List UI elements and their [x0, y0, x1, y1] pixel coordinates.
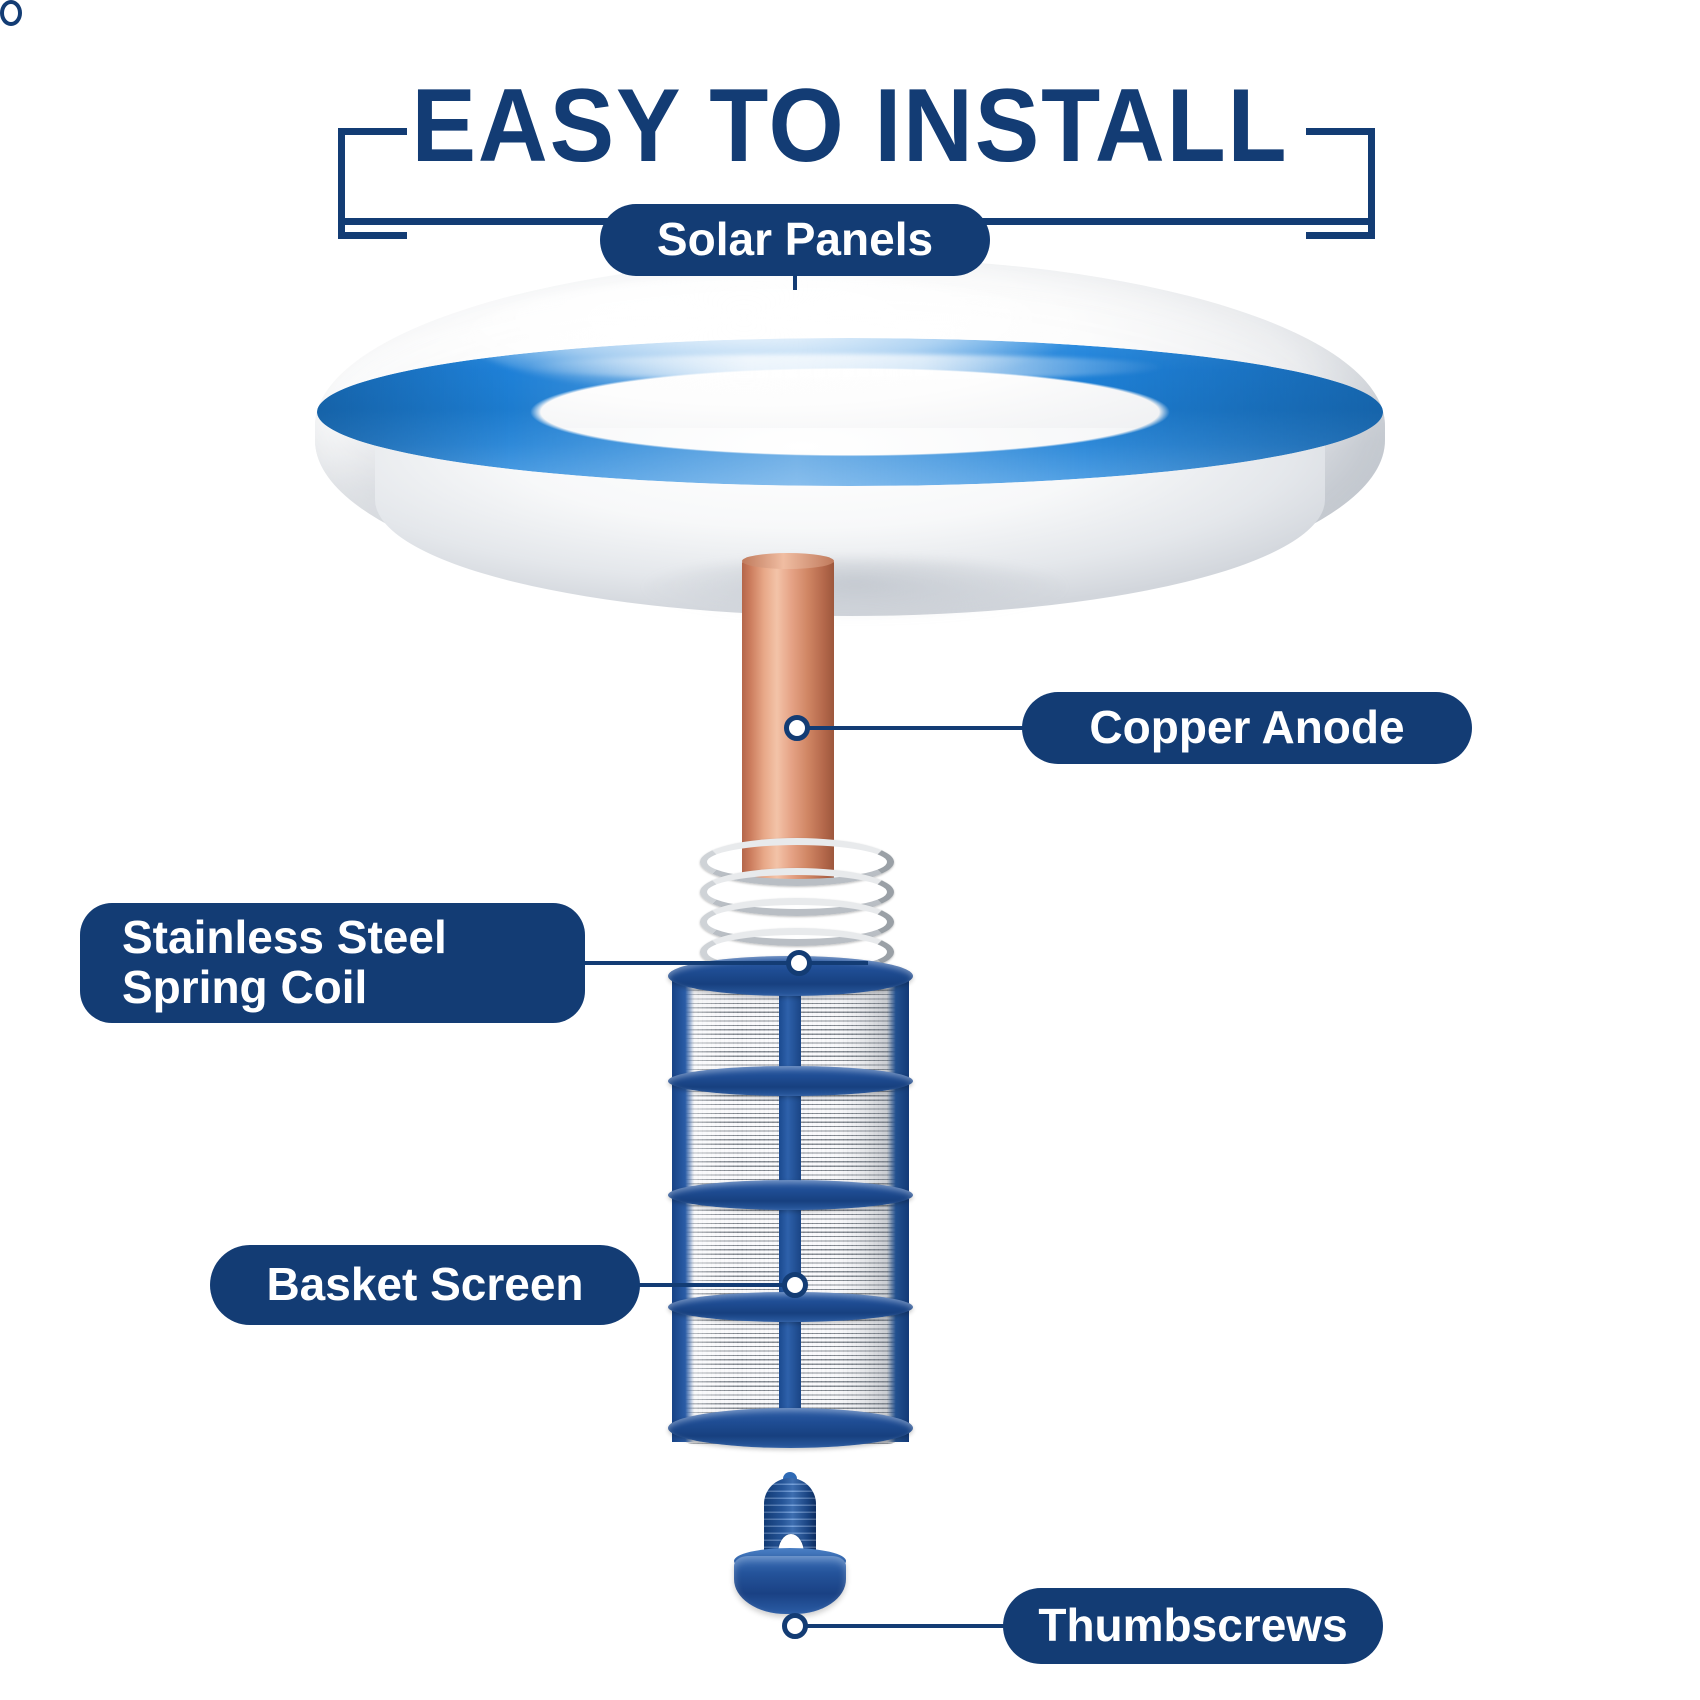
connector-line-basket-screen — [636, 1283, 798, 1287]
connector-dot-basket-screen — [782, 1272, 808, 1298]
connector-line-solar-panels — [793, 272, 797, 290]
basket-ring-rib — [668, 1180, 913, 1210]
thumbscrew — [722, 1478, 858, 1614]
callout-basket-screen[interactable]: Basket Screen — [210, 1245, 640, 1325]
callout-spring-coil[interactable]: Stainless Steel Spring Coil — [80, 903, 585, 1023]
basket-ring-rib — [668, 1066, 913, 1096]
basket-screen-assembly — [668, 962, 913, 1452]
callout-thumbscrews[interactable]: Thumbscrews — [1003, 1588, 1383, 1664]
connector-line-thumbscrews — [800, 1624, 1012, 1628]
disc-top-highlight — [465, 276, 1085, 396]
basket-ring-rib — [668, 1408, 913, 1448]
solar-panel-float-disc — [315, 258, 1385, 618]
screw-knurled-base — [734, 1556, 846, 1614]
connector-line-spring-coil — [578, 961, 868, 965]
basket-right-edge — [887, 972, 909, 1442]
callout-solar-panels[interactable]: Solar Panels — [600, 204, 990, 276]
connector-line-copper-anode — [800, 726, 1032, 730]
connector-dot-copper-anode — [784, 715, 810, 741]
disc-bottom-shadow — [645, 558, 1065, 618]
connector-dot-spring-coil — [786, 950, 812, 976]
infographic-canvas: EASY TO INSTALL — [0, 0, 1700, 1700]
basket-left-edge — [672, 972, 694, 1442]
rod-top-cap — [742, 553, 834, 569]
connector-dot-thumbscrews — [782, 1613, 808, 1639]
callout-copper-anode[interactable]: Copper Anode — [1022, 692, 1472, 764]
